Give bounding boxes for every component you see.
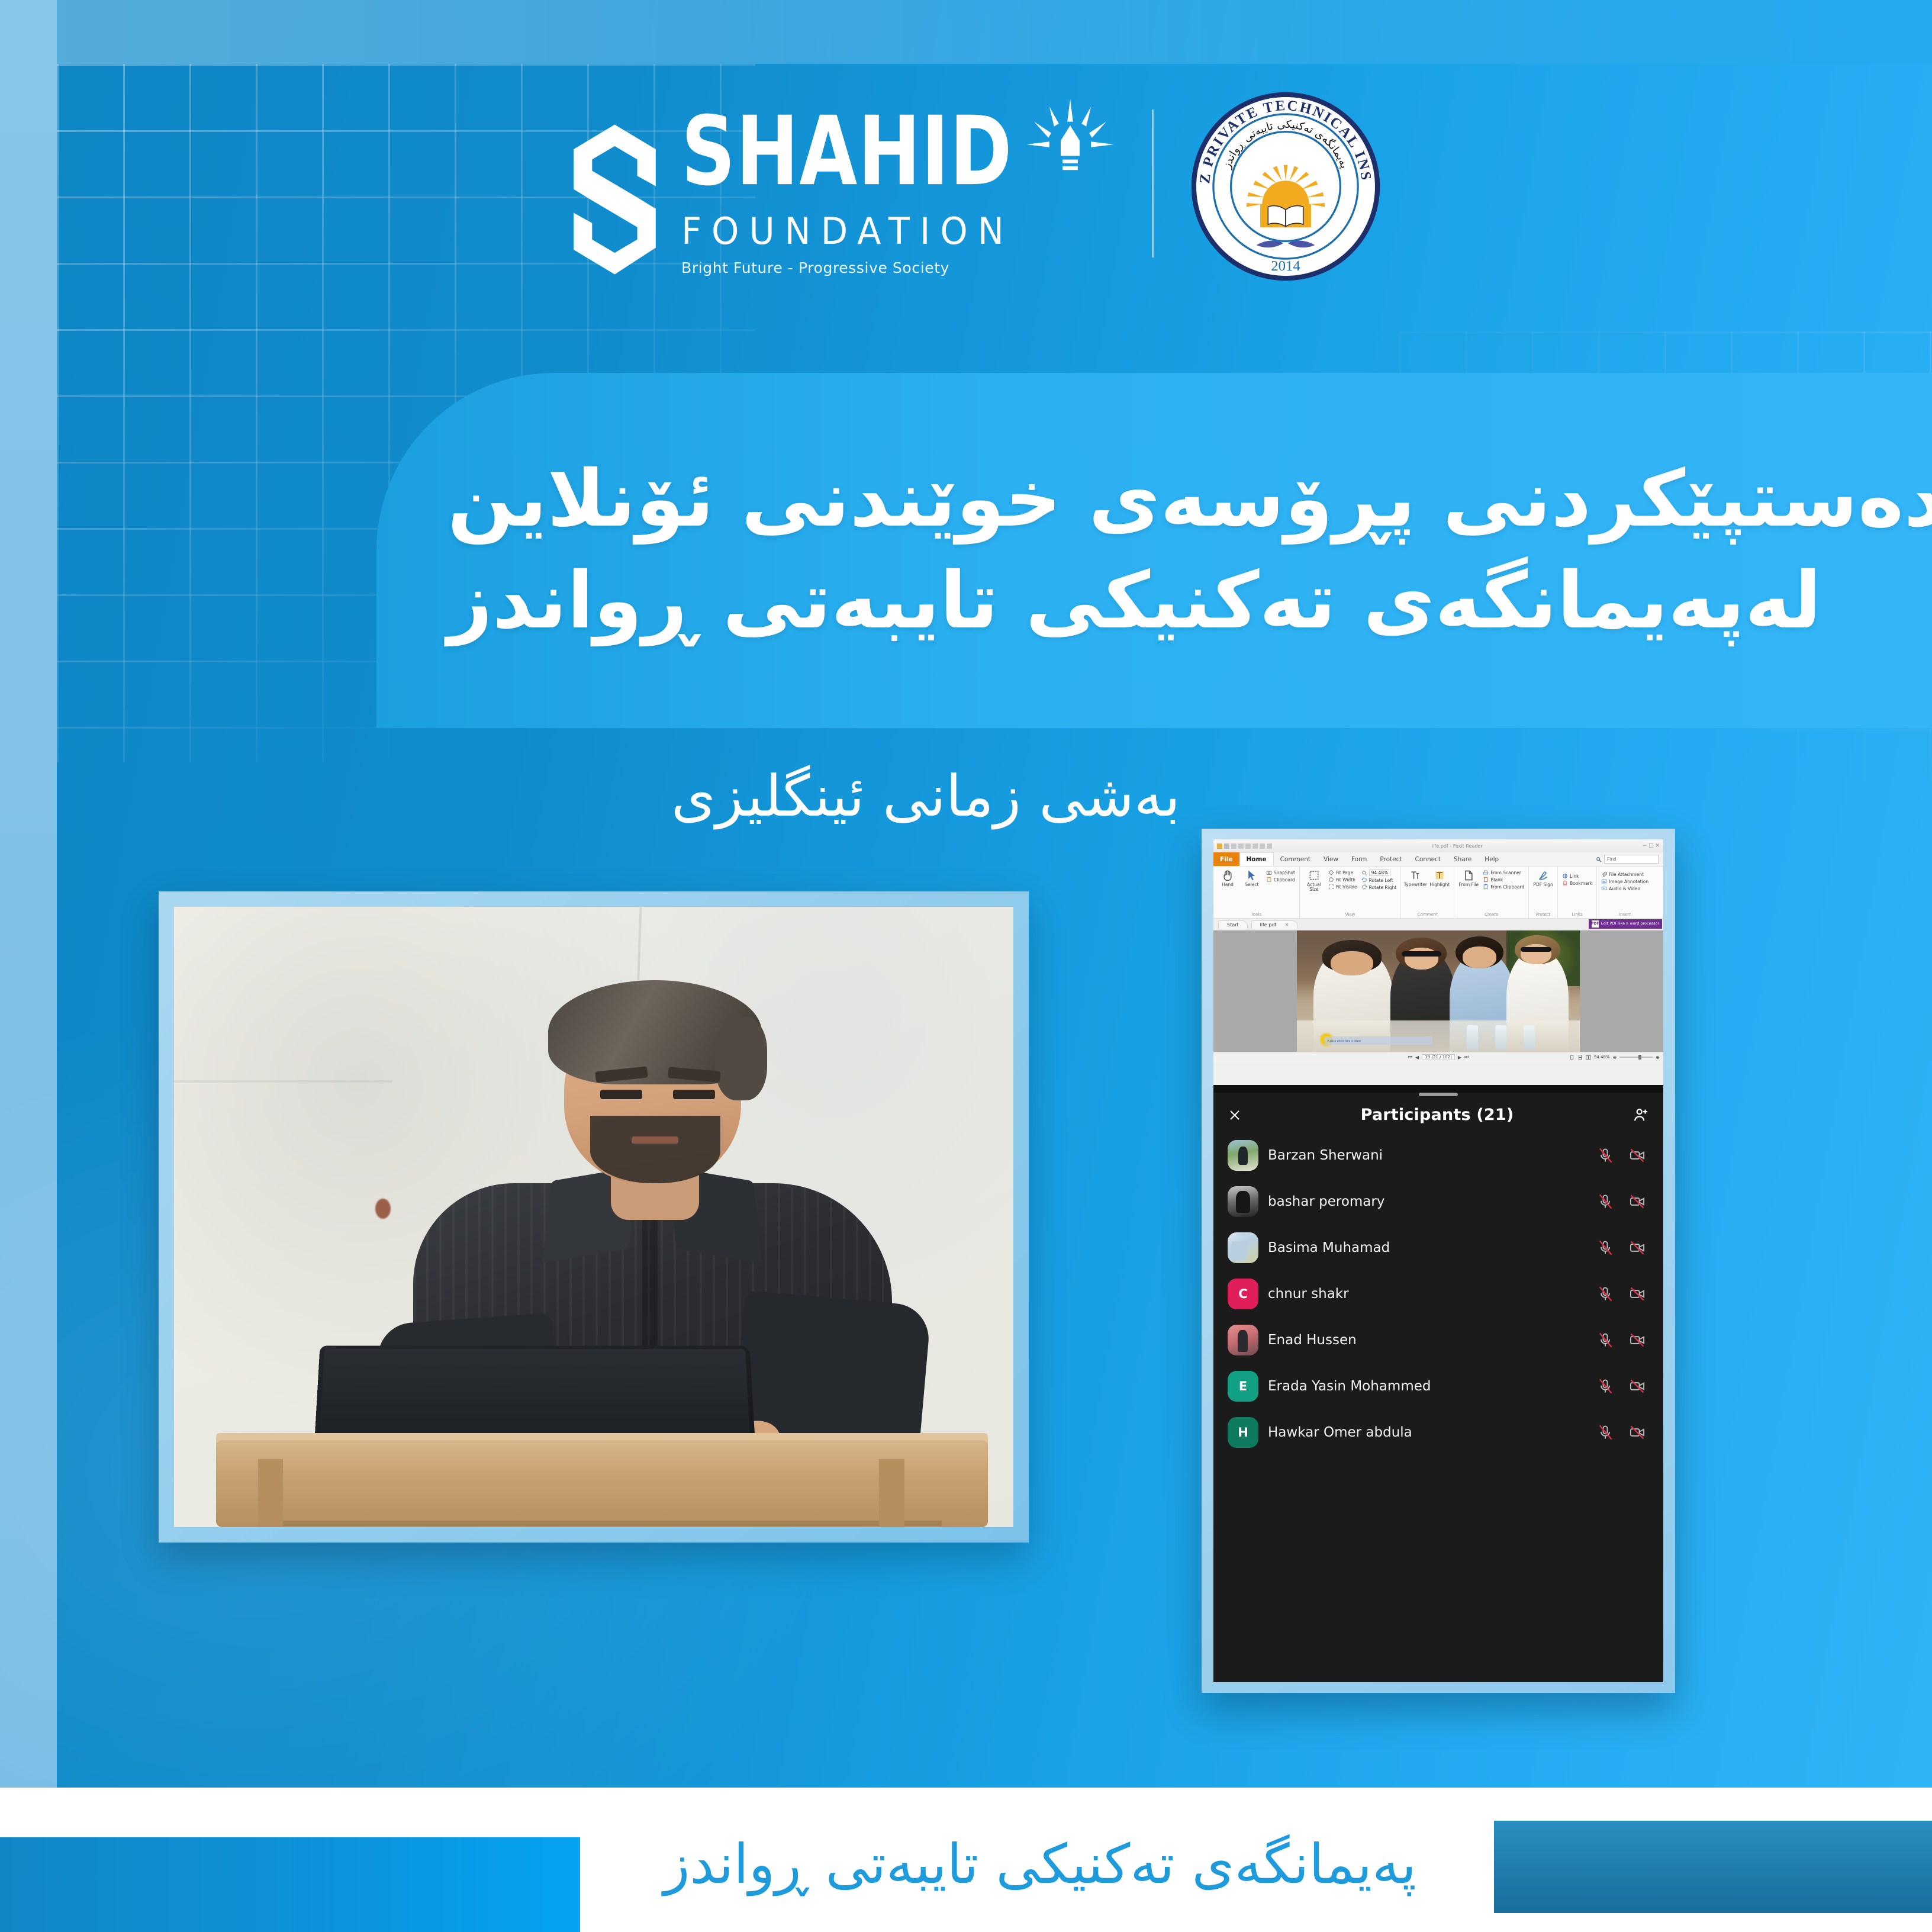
search-icon [1596, 856, 1602, 862]
page-caption: A place where time is slower [1325, 1036, 1432, 1044]
ribbon-group-tools-label: Tools [1218, 911, 1295, 917]
ribbon-tab-form[interactable]: Form [1345, 852, 1373, 866]
headline-line-1: دەستپێکردنی پڕۆسەی خوێندنی ئۆنلاین [447, 449, 1932, 550]
participant-row-4[interactable]: C chnur shakr [1215, 1271, 1662, 1317]
zoom-slider[interactable] [1619, 1057, 1653, 1058]
blank-page-icon [1483, 877, 1489, 883]
scanner-icon [1483, 870, 1489, 875]
pdf-reader-window: life.pdf - Foxit Reader − □ ✕ File Home … [1213, 839, 1663, 1085]
tablet-screen: life.pdf - Foxit Reader − □ ✕ File Home … [1213, 839, 1663, 1682]
participant-name: Hawkar Omer abdula [1268, 1425, 1588, 1440]
tool-from-clipboard-label: From Clipboard [1490, 884, 1524, 890]
ribbon-tab-share[interactable]: Share [1447, 852, 1478, 866]
tool-link[interactable]: Link [1562, 873, 1592, 879]
participant-status [1597, 1286, 1649, 1302]
ribbon-group-protect-label: Protect [1533, 911, 1553, 917]
link-icon [1562, 873, 1568, 879]
tool-from-clipboard[interactable]: From Clipboard [1483, 884, 1524, 890]
fit-visible-icon [1328, 884, 1334, 890]
file-tab-start[interactable]: Start [1218, 920, 1248, 929]
instructor-photo [174, 907, 1013, 1527]
prev-page-icon[interactable]: ◀ [1415, 1055, 1419, 1060]
ribbon-tab-help[interactable]: Help [1478, 852, 1505, 866]
avatar-initial: C [1228, 1279, 1258, 1309]
last-page-icon[interactable]: ⏭ [1464, 1054, 1469, 1060]
eye-left [600, 1090, 642, 1099]
pdf-ribbon: Hand Select [1213, 867, 1663, 919]
single-page-view-icon[interactable] [1569, 1055, 1574, 1060]
tool-from-file[interactable]: From File [1458, 870, 1479, 887]
first-page-icon[interactable]: ⏮ [1408, 1054, 1412, 1060]
tool-from-file-label: From File [1459, 883, 1479, 887]
tool-audio-video[interactable]: Audio & Video [1601, 885, 1648, 891]
ribbon-group-tools: Hand Select [1213, 867, 1300, 918]
mic-muted-icon[interactable] [1597, 1424, 1614, 1441]
ribbon-group-create-label: Create [1458, 911, 1524, 917]
clipboard-paste-icon [1483, 884, 1489, 890]
tool-from-scanner-label: From Scanner [1490, 870, 1521, 875]
participant-row-5[interactable]: Enad Hussen [1215, 1317, 1662, 1363]
participant-row-6[interactable]: E Erada Yasin Mohammed [1215, 1363, 1662, 1409]
shahid-name: SHAHID [681, 110, 1013, 194]
ribbon-group-insert-label: Insert [1601, 911, 1648, 917]
attachment-icon [1601, 871, 1607, 877]
promo-icon: PDF [1592, 920, 1599, 928]
poster-canvas: SHAHID [0, 0, 1932, 1932]
tool-highlight-label: Highlight [1429, 883, 1450, 887]
file-tab-close-icon[interactable]: ✕ [1285, 922, 1289, 928]
pdf-status-bar: ⏮ ◀ 19 (21 / 102) ▶ ⏭ [1213, 1052, 1663, 1062]
rotate-left-icon [1361, 877, 1367, 883]
ribbon-group-view: Actual Size Fit Page [1300, 867, 1401, 918]
tool-rotate-right[interactable]: Rotate Right [1361, 884, 1397, 890]
pdf-find-input[interactable] [1604, 855, 1659, 864]
avatar-initial-letter: C [1238, 1287, 1247, 1301]
tablet-mockup: life.pdf - Foxit Reader − □ ✕ File Home … [1202, 829, 1675, 1693]
ribbon-group-create: From File From Scanner [1454, 867, 1529, 918]
tool-fit-page-label: Fit Page [1336, 870, 1353, 875]
diner-2-sunglasses [1402, 951, 1441, 957]
file-tab-document[interactable]: life.pdf ✕ [1251, 920, 1298, 929]
background-top-strip [57, 0, 1932, 64]
status-zoom-controls[interactable]: 94.48% ⊖ ⊕ [1569, 1055, 1660, 1060]
ribbon-tab-comment[interactable]: Comment [1274, 852, 1317, 866]
tool-rotate-left[interactable]: Rotate Left [1361, 877, 1397, 883]
mic-muted-icon[interactable] [1597, 1378, 1614, 1395]
video-off-icon[interactable] [1629, 1286, 1646, 1302]
participants-title: Participants (21) [1242, 1106, 1632, 1124]
participant-name: Basima Muhamad [1268, 1240, 1588, 1255]
tool-select-label: Select [1245, 883, 1258, 887]
footer-accent-left [0, 1837, 580, 1932]
fit-page-icon [1328, 870, 1334, 875]
snapshot-icon [1266, 870, 1272, 875]
ribbon-group-view-label: View [1304, 911, 1396, 917]
pen-nib-burst-icon [1023, 97, 1118, 192]
pdf-sign-icon [1537, 870, 1549, 881]
audio-video-icon [1601, 885, 1607, 891]
participant-row-1[interactable]: Barzan Sherwani [1215, 1132, 1662, 1178]
mic-muted-icon[interactable] [1597, 1332, 1614, 1348]
avatar [1228, 1140, 1258, 1171]
tool-hand-label: Hand [1222, 883, 1234, 887]
participant-status [1597, 1239, 1649, 1256]
shahid-wordmark: SHAHID [681, 97, 1118, 276]
file-tab-document-label: life.pdf [1260, 922, 1277, 928]
wall-seam-2 [174, 1080, 392, 1083]
participants-list: Barzan Sherwani [1213, 1132, 1663, 1456]
shahid-tagline: Bright Future - Progressive Society [681, 259, 949, 276]
diner-4-sunglasses [1521, 947, 1552, 952]
desk-leg-left [258, 1459, 284, 1527]
participant-status [1597, 1378, 1649, 1395]
status-zoom-value: 94.48% [1594, 1055, 1610, 1060]
continuous-view-icon[interactable] [1577, 1055, 1583, 1060]
participant-row-7[interactable]: H Hawkar Omer abdula [1215, 1409, 1662, 1456]
mic-muted-icon[interactable] [1597, 1193, 1614, 1210]
tool-select[interactable]: Select [1242, 870, 1262, 887]
participant-status [1597, 1424, 1649, 1441]
pdf-page-image: A place where time is slower [1297, 930, 1580, 1052]
instructor-photo-card [159, 891, 1029, 1543]
promo-banner[interactable]: PDF Edit PDF like a word processor [1589, 919, 1662, 929]
ribbon-group-links: Link Bookmark Links [1558, 867, 1597, 918]
ribbon-group-protect: PDF Sign Protect [1529, 867, 1558, 918]
logo-row: SHAHID [0, 89, 1932, 284]
beard [590, 1116, 720, 1183]
tool-fit-visible-label: Fit Visible [1336, 884, 1357, 890]
promo-banner-text: Edit PDF like a word processor [1601, 922, 1659, 926]
pdf-search-area[interactable] [1596, 852, 1663, 866]
footer-institute-name: پەیمانگەی تەکنیکی تایبەتی ڕواندز [598, 1814, 1482, 1914]
tool-typewriter-label: Typewriter [1404, 883, 1427, 887]
pdf-ribbon-tabs: File Home Comment View Form Protect Conn… [1213, 852, 1663, 867]
tool-from-scanner[interactable]: From Scanner [1483, 870, 1524, 875]
participant-name: Erada Yasin Mohammed [1268, 1379, 1588, 1394]
mic-muted-icon[interactable] [1597, 1147, 1614, 1164]
actual-size-icon [1308, 870, 1320, 881]
wooden-desk [216, 1440, 988, 1527]
footer-accent-right [1494, 1821, 1932, 1913]
tool-link-label: Link [1570, 874, 1579, 879]
tool-rotate-right-label: Rotate Right [1369, 885, 1397, 890]
ribbon-tab-file[interactable]: File [1213, 852, 1239, 866]
shahid-foundation-logo: SHAHID [549, 97, 1118, 276]
avatar-initial-letter: E [1239, 1379, 1247, 1393]
shahid-subtitle: FOUNDATION [681, 210, 1014, 252]
facing-view-icon[interactable] [1586, 1055, 1591, 1060]
zoom-level-display[interactable]: 94.48% [1361, 870, 1397, 876]
desk-leg-right [879, 1459, 904, 1527]
tool-fit-width-label: Fit Width [1336, 877, 1355, 883]
zoom-participants-panel: Participants (21) Barzan Sherwani [1213, 1093, 1663, 1682]
water-bottle-3 [1524, 1025, 1535, 1049]
video-off-icon[interactable] [1629, 1332, 1646, 1348]
tool-file-attachment[interactable]: File Attachment [1601, 871, 1648, 877]
fit-width-icon [1328, 877, 1334, 883]
tool-snapshot[interactable]: SnapShot [1266, 870, 1295, 875]
avatar [1228, 1232, 1258, 1263]
participant-name: chnur shakr [1268, 1286, 1588, 1302]
mouth [632, 1136, 678, 1144]
subtitle-text: بەشی زمانی ئینگلیزی [671, 761, 1180, 832]
add-participant-icon[interactable] [1632, 1107, 1649, 1123]
mic-muted-icon[interactable] [1597, 1239, 1614, 1256]
participant-name: Enad Hussen [1268, 1332, 1588, 1348]
bookmark-icon [1562, 880, 1568, 886]
hand-tool-icon [1222, 870, 1234, 881]
headline-banner: دەستپێکردنی پڕۆسەی خوێندنی ئۆنلاین لەپەی… [376, 373, 1932, 728]
tool-file-attachment-label: File Attachment [1609, 872, 1644, 877]
participant-status [1597, 1332, 1649, 1348]
tool-pdf-sign[interactable]: PDF Sign [1533, 870, 1553, 887]
tool-blank-label: Blank [1490, 877, 1503, 883]
window-controls[interactable]: − □ ✕ [1643, 843, 1660, 849]
ribbon-group-links-label: Links [1562, 911, 1592, 917]
tool-audio-video-label: Audio & Video [1609, 886, 1640, 891]
tool-bookmark-label: Bookmark [1570, 881, 1592, 886]
eye-right [673, 1090, 714, 1099]
wall-mark [375, 1199, 391, 1219]
tool-hand[interactable]: Hand [1218, 870, 1238, 887]
avatar [1228, 1325, 1258, 1355]
image-annotation-icon [1601, 878, 1607, 884]
rwandz-institute-seal: RWANDZ PRIVATE TECHNICAL INSTITUTE پەیما… [1188, 89, 1383, 284]
participant-status [1597, 1147, 1649, 1164]
desk-front [278, 1521, 942, 1526]
video-off-icon[interactable] [1629, 1378, 1646, 1395]
diner-3-face [1463, 946, 1496, 968]
tool-rotate-left-label: Rotate Left [1369, 878, 1393, 883]
video-off-icon[interactable] [1629, 1239, 1646, 1256]
tool-actual-size[interactable]: Actual Size [1304, 870, 1324, 893]
shahid-s-monogram-icon [559, 123, 666, 276]
pdf-document-title: life.pdf - Foxit Reader [1272, 843, 1643, 849]
tool-highlight[interactable]: Highlight [1429, 870, 1450, 887]
water-bottle-1 [1467, 1025, 1478, 1049]
zoom-icon [1361, 870, 1367, 876]
zoom-value[interactable]: 94.48% [1369, 870, 1391, 876]
headline-line-2: لەپەیمانگەی تەکنیکی تایبەتی ڕواندز [447, 550, 1821, 652]
pdf-file-tabbar: Start life.pdf ✕ PDF Edit PDF like a wor… [1213, 919, 1663, 930]
ribbon-group-insert: File Attachment Image Annotation [1597, 867, 1653, 918]
tool-blank[interactable]: Blank [1483, 877, 1524, 883]
ribbon-tab-home[interactable]: Home [1239, 852, 1274, 866]
hair-side [715, 1017, 767, 1100]
avatar-initial: H [1228, 1417, 1258, 1448]
tool-typewriter[interactable]: Typewriter [1405, 870, 1425, 887]
rotate-right-icon [1361, 884, 1367, 890]
select-arrow-icon [1246, 870, 1258, 881]
pdf-page-canvas[interactable]: A place where time is slower [1213, 930, 1663, 1052]
tool-clipboard[interactable]: Clipboard [1266, 877, 1295, 883]
participant-row-3[interactable]: Basima Muhamad [1215, 1225, 1662, 1271]
tool-actual-size-label: Actual Size [1304, 883, 1324, 893]
participant-status [1597, 1193, 1649, 1210]
logo-divider [1152, 110, 1154, 257]
participant-row-2[interactable]: bashar peromary [1215, 1178, 1662, 1225]
page-indicator[interactable]: 19 (21 / 102) [1422, 1054, 1455, 1060]
ribbon-tab-protect[interactable]: Protect [1373, 852, 1408, 866]
participant-name: bashar peromary [1268, 1194, 1588, 1209]
from-file-icon [1463, 870, 1474, 881]
typewriter-icon [1409, 870, 1421, 881]
avatar-initial: E [1228, 1371, 1258, 1402]
close-x-icon[interactable] [1228, 1108, 1242, 1122]
video-off-icon[interactable] [1629, 1193, 1646, 1210]
seal-year: 2014 [1271, 258, 1300, 274]
ribbon-tab-connect[interactable]: Connect [1409, 852, 1447, 866]
tool-fit-width[interactable]: Fit Width [1328, 877, 1357, 883]
ribbon-tab-view[interactable]: View [1317, 852, 1345, 866]
tool-pdf-sign-label: PDF Sign [1533, 883, 1553, 887]
participants-header: Participants (21) [1213, 1096, 1663, 1132]
tool-image-annotation-label: Image Annotation [1609, 879, 1648, 884]
avatar-initial-letter: H [1238, 1425, 1248, 1440]
avatar [1228, 1186, 1258, 1217]
tool-clipboard-label: Clipboard [1274, 877, 1295, 883]
clipboard-icon [1266, 877, 1272, 883]
tool-snapshot-label: SnapShot [1274, 870, 1295, 875]
next-page-icon[interactable]: ▶ [1458, 1055, 1461, 1060]
diner-1-face [1331, 951, 1373, 975]
tool-fit-page[interactable]: Fit Page [1328, 870, 1357, 875]
mic-muted-icon[interactable] [1597, 1286, 1614, 1302]
ribbon-group-comment: Typewriter Highlight Comment [1401, 867, 1454, 918]
pdf-titlebar: life.pdf - Foxit Reader − □ ✕ [1213, 839, 1663, 852]
zoom-in-icon[interactable]: ⊕ [1656, 1055, 1660, 1060]
dining-table [1297, 1020, 1580, 1052]
participant-name: Barzan Sherwani [1268, 1148, 1588, 1163]
tool-fit-visible[interactable]: Fit Visible [1328, 884, 1357, 890]
video-off-icon[interactable] [1629, 1424, 1646, 1441]
footer-bar: پەیمانگەی تەکنیکی تایبەتی ڕواندز [0, 1788, 1932, 1932]
ribbon-group-comment-label: Comment [1405, 911, 1450, 917]
video-off-icon[interactable] [1629, 1147, 1646, 1164]
quick-access-toolbar[interactable] [1217, 843, 1272, 849]
tool-bookmark[interactable]: Bookmark [1562, 880, 1592, 886]
tool-image-annotation[interactable]: Image Annotation [1601, 878, 1648, 884]
highlight-icon [1434, 870, 1445, 881]
zoom-out-icon[interactable]: ⊖ [1613, 1055, 1617, 1060]
water-bottle-2 [1495, 1025, 1506, 1049]
